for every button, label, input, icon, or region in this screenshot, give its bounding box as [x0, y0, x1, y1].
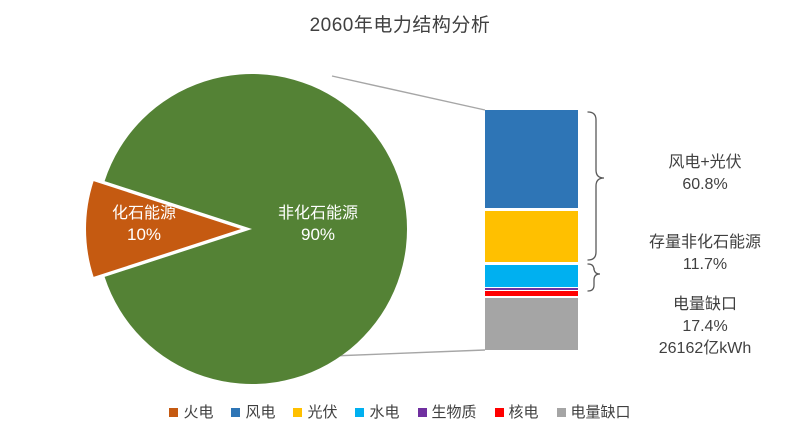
callout-wind-solar-title: 风电+光伏: [668, 154, 741, 171]
legend-label: 核电: [509, 404, 539, 421]
callout-power-gap-value: 17.4%: [612, 316, 798, 338]
legend-item-guangfu[interactable]: 光伏: [293, 404, 337, 421]
legend-swatch-icon: [231, 408, 240, 417]
legend-label: 生物质: [432, 404, 477, 421]
stacked-bar: [485, 110, 578, 350]
bracket-stock-nonfossil: [588, 264, 600, 291]
bar-segment-solar: [485, 211, 578, 262]
legend-swatch-icon: [293, 408, 302, 417]
bracket-wind-solar: [588, 112, 604, 260]
chart-title: 2060年电力结构分析: [0, 10, 800, 37]
legend-item-shengwuzhi[interactable]: 生物质: [418, 404, 477, 421]
chart-legend: 火电 风电 光伏 水电 生物质 核电 电量缺口: [0, 404, 800, 421]
callout-power-gap: 电量缺口 17.4% 26162亿kWh: [612, 294, 798, 360]
bar-segment-nuclear: [485, 291, 578, 296]
bar-segment-gap: [485, 298, 578, 350]
legend-swatch-icon: [557, 408, 566, 417]
legend-swatch-icon: [169, 408, 178, 417]
legend-item-fengdian[interactable]: 风电: [231, 404, 275, 421]
legend-item-shuidian[interactable]: 水电: [355, 404, 399, 421]
legend-swatch-icon: [355, 408, 364, 417]
legend-label: 风电: [245, 404, 275, 421]
legend-label: 火电: [183, 404, 213, 421]
legend-label: 电量缺口: [571, 404, 631, 421]
callout-power-gap-amount: 26162亿kWh: [612, 338, 798, 360]
chart-canvas: 2060年电力结构分析 化石能源 10% 非化石能源 90%: [0, 0, 800, 433]
callout-stock-nonfossil-title: 存量非化石能源: [649, 234, 761, 251]
callout-power-gap-title: 电量缺口: [673, 296, 737, 313]
bar-segment-wind: [485, 110, 578, 208]
legend-label: 水电: [369, 404, 399, 421]
callout-stock-nonfossil-value: 11.7%: [612, 254, 798, 276]
bar-segment-biomass: [485, 288, 578, 290]
legend-item-hedian[interactable]: 核电: [495, 404, 539, 421]
callout-wind-solar-value: 60.8%: [620, 174, 790, 196]
legend-item-huodian[interactable]: 火电: [169, 404, 213, 421]
bar-segment-hydro: [485, 265, 578, 287]
pie-chart: [82, 62, 422, 392]
callout-wind-solar: 风电+光伏 60.8%: [620, 152, 790, 196]
legend-item-dianliangquekou[interactable]: 电量缺口: [557, 404, 631, 421]
legend-swatch-icon: [495, 408, 504, 417]
legend-label: 光伏: [307, 404, 337, 421]
callout-stock-nonfossil: 存量非化石能源 11.7%: [612, 232, 798, 276]
legend-swatch-icon: [418, 408, 427, 417]
